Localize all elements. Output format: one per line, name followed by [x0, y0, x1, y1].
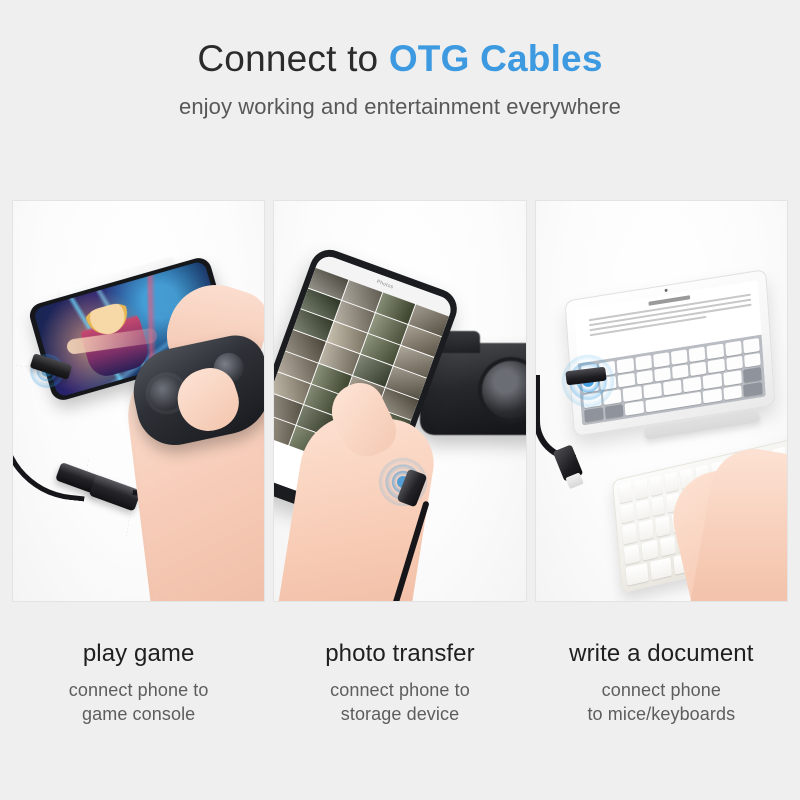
promo-page: Connect to OTG Cables enjoy working and …	[0, 0, 800, 800]
caption-title: play game	[12, 640, 265, 668]
keyboard-key	[617, 358, 634, 373]
panel-play-game	[12, 200, 265, 602]
keyboard-key	[743, 338, 760, 353]
keyboard-key	[663, 380, 682, 395]
header: Connect to OTG Cables enjoy working and …	[0, 38, 800, 120]
keyboard-key	[636, 370, 653, 385]
keyboard-key	[659, 536, 676, 557]
keyboard-key	[702, 388, 721, 403]
scene-play-game	[13, 201, 264, 601]
keyboard-key	[672, 364, 689, 379]
keyboard-key	[620, 503, 634, 524]
keyboard-key	[683, 376, 702, 391]
keyboard-key	[743, 381, 762, 396]
keyboard-key	[689, 346, 706, 361]
caption-subtitle-line1: connect phone to	[12, 678, 265, 702]
keyboard-key	[725, 341, 742, 356]
keyboard-key	[618, 372, 635, 387]
keyboard-key	[742, 367, 761, 382]
keyboard-key	[654, 367, 671, 382]
caption-subtitle-line1: connect phone	[535, 678, 788, 702]
keyboard-key	[723, 385, 742, 400]
caption-subtitle-line1: connect phone to	[273, 678, 526, 702]
scene-photo-transfer: Photos	[274, 201, 525, 601]
keyboard-key	[726, 355, 743, 370]
caption-photo-transfer: photo transfer connect phone to storage …	[273, 640, 526, 750]
keyboard-key	[708, 358, 725, 373]
title-prefix: Connect to	[197, 38, 388, 79]
caption-subtitle-line2: storage device	[273, 702, 526, 726]
keyboard-key	[633, 479, 647, 500]
keyboard-key	[604, 403, 623, 418]
keyboard-key	[643, 383, 662, 398]
keyboard-key	[651, 496, 665, 517]
keyboard-key	[664, 472, 678, 493]
keyboard-key	[744, 352, 761, 367]
caption-subtitle-line2: to mice/keyboards	[535, 702, 788, 726]
keyboard-key	[638, 520, 653, 541]
keyboard-key	[623, 386, 642, 401]
caption-title: photo transfer	[273, 640, 526, 668]
panel-row: Photos	[12, 200, 788, 602]
keyboard-key	[635, 500, 649, 521]
panel-photo-transfer: Photos	[273, 200, 526, 602]
caption-row: play game connect phone to game console …	[12, 640, 788, 750]
keyboard-key	[723, 370, 742, 385]
keyboard-key	[623, 544, 640, 565]
keyboard-key	[690, 361, 707, 376]
keyboard-key	[584, 407, 603, 422]
title-accent: OTG Cables	[389, 38, 603, 79]
keyboard-key	[618, 482, 632, 503]
page-subtitle: enjoy working and entertainment everywhe…	[0, 94, 800, 120]
keyboard-key	[707, 344, 724, 359]
keyboard-key	[671, 349, 688, 364]
keyboard-key	[635, 355, 652, 370]
caption-title: write a document	[535, 640, 788, 668]
keyboard-key	[655, 516, 670, 537]
caption-subtitle: connect phone to game console	[12, 678, 265, 727]
keyboard-key	[649, 475, 663, 496]
page-title: Connect to OTG Cables	[0, 38, 800, 81]
caption-write-a-document: write a document connect phone to mice/k…	[535, 640, 788, 750]
scene-write-a-document	[536, 201, 787, 601]
keyboard-key	[622, 524, 637, 545]
caption-subtitle: connect phone to storage device	[273, 678, 526, 727]
keyboard-key	[641, 540, 658, 561]
panel-write-a-document	[535, 200, 788, 602]
caption-play-game: play game connect phone to game console	[12, 640, 265, 750]
caption-subtitle: connect phone to mice/keyboards	[535, 678, 788, 727]
keyboard-key	[625, 400, 644, 415]
caption-subtitle-line2: game console	[12, 702, 265, 726]
front-camera-icon	[664, 289, 667, 292]
keyboard-key	[625, 563, 648, 586]
keyboard-key	[653, 352, 670, 367]
keyboard-key	[703, 373, 722, 388]
keyboard-key	[649, 558, 672, 581]
